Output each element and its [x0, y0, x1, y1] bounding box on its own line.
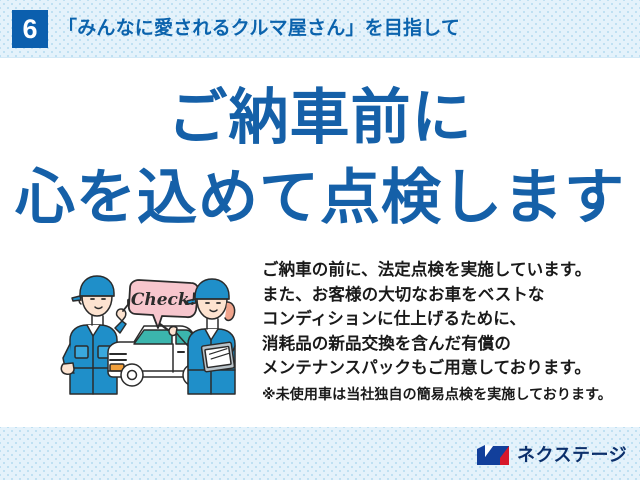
- body-note: ※未使用車は当社独自の簡易点検を実施しております。: [262, 383, 622, 405]
- body-line: メンテナンスパックもご用意しております。: [262, 356, 622, 381]
- body-copy: ご納車の前に、法定点検を実施しています。 また、お客様の大切なお車をベストな コ…: [262, 258, 622, 405]
- nextage-n-mark-icon: [476, 444, 510, 466]
- header-title: 「みんなに愛されるクルマ屋さん」を目指して: [58, 14, 460, 44]
- promo-banner: 6 「みんなに愛されるクルマ屋さん」を目指して ご納車前に 心を込めて点検します…: [0, 0, 640, 480]
- section-number-badge: 6: [12, 10, 48, 48]
- body-line: ご納車の前に、法定点検を実施しています。: [262, 258, 622, 283]
- brand-logo: ネクステージ: [476, 441, 627, 469]
- body-line: コンディションに仕上げるために、: [262, 307, 622, 332]
- body-line: 消耗品の新品交換を含んだ有償の: [262, 332, 622, 357]
- headline-line-1: ご納車前に: [0, 88, 640, 148]
- mechanics-inspection-illustration: Check!: [60, 272, 242, 398]
- headline-line-2: 心を込めて点検します: [0, 168, 640, 228]
- body-line: また、お客様の大切なお車をベストな: [262, 283, 622, 308]
- check-bubble-text: Check!: [131, 290, 197, 310]
- brand-name: ネクステージ: [517, 445, 627, 465]
